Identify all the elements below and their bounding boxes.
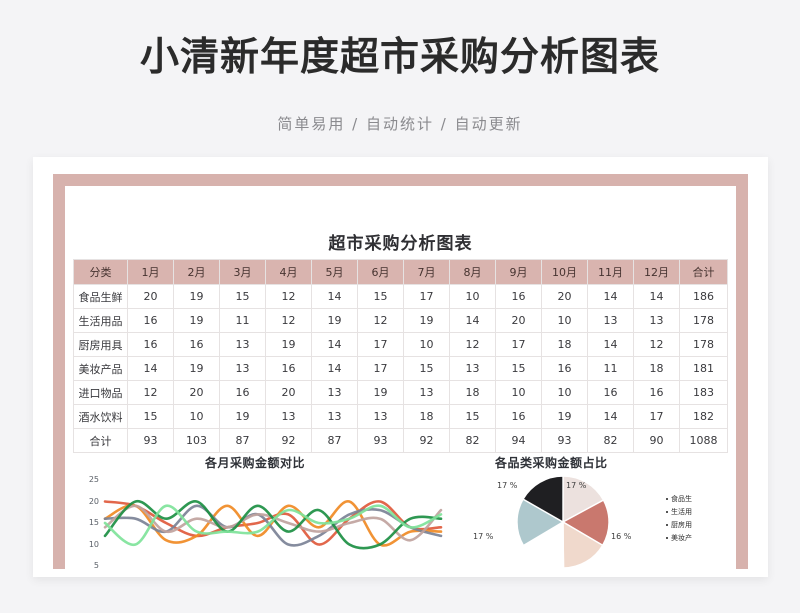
table-cell: 20 [542, 285, 588, 309]
table-cell: 16 [128, 309, 174, 333]
table-cell: 10 [450, 285, 496, 309]
line-chart-yaxis: 252015105 [73, 472, 99, 572]
table-cell: 13 [312, 381, 358, 405]
table-col-header: 4月 [266, 260, 312, 285]
table-cell: 14 [588, 405, 634, 429]
table-col-header: 合计 [680, 260, 728, 285]
table-cell: 14 [312, 357, 358, 381]
table-cell: 93 [542, 429, 588, 453]
table-cell: 20 [266, 381, 312, 405]
table-col-header: 分类 [74, 260, 128, 285]
table-cell: 10 [542, 309, 588, 333]
pie-pct-label-1: 16 % [611, 532, 631, 541]
table-row: 美妆产品141913161417151315161118181 [74, 357, 728, 381]
table-row: 食品生鲜201915121415171016201414186 [74, 285, 728, 309]
page-root: 小清新年度超市采购分析图表 简单易用 / 自动统计 / 自动更新 超市采购分析图… [0, 0, 800, 613]
table-cell: 15 [358, 285, 404, 309]
table-col-header: 3月 [220, 260, 266, 285]
table-cell: 92 [266, 429, 312, 453]
pie-legend-item: 生活用 [666, 505, 728, 518]
table-cell: 19 [542, 405, 588, 429]
pie-pct-label-0: 17 % [566, 481, 586, 490]
y-tick-label: 15 [89, 518, 99, 527]
pie-pct-label-3: 17 % [497, 481, 517, 490]
table-cell: 20 [174, 381, 220, 405]
table-cell: 10 [174, 405, 220, 429]
row-total: 178 [680, 333, 728, 357]
table-cell: 19 [358, 381, 404, 405]
table-cell: 19 [266, 333, 312, 357]
table-cell: 13 [312, 405, 358, 429]
row-total: 178 [680, 309, 728, 333]
table-cell: 16 [634, 381, 680, 405]
table-cell: 17 [358, 357, 404, 381]
row-label: 美妆产品 [74, 357, 128, 381]
table-header-row: 分类1月2月3月4月5月6月7月8月9月10月11月12月合计 [74, 260, 728, 285]
pie-chart: 17 % 16 % 17 % 17 % 食品生生活用厨房用美妆产 [465, 470, 730, 572]
table-cell: 12 [266, 309, 312, 333]
table-col-header: 5月 [312, 260, 358, 285]
table-col-header: 2月 [174, 260, 220, 285]
table-cell: 11 [220, 309, 266, 333]
table-cell: 15 [220, 285, 266, 309]
row-total: 182 [680, 405, 728, 429]
row-total: 1088 [680, 429, 728, 453]
worksheet-card: 超市采购分析图表 分类1月2月3月4月5月6月7月8月9月10月11月12月合计… [33, 157, 768, 577]
line-chart-plot [101, 472, 445, 572]
table-cell: 14 [450, 309, 496, 333]
legend-marker-icon [666, 511, 668, 513]
table-col-header: 9月 [496, 260, 542, 285]
table-cell: 15 [496, 357, 542, 381]
pie-legend-label: 食品生 [671, 494, 692, 504]
legend-marker-icon [666, 498, 668, 500]
table-cell: 12 [128, 381, 174, 405]
table-row: 进口物品122016201319131810101616183 [74, 381, 728, 405]
table-cell: 19 [174, 357, 220, 381]
table-cell: 93 [128, 429, 174, 453]
table-cell: 18 [404, 405, 450, 429]
table-cell: 13 [588, 309, 634, 333]
table-cell: 16 [174, 333, 220, 357]
line-chart-title: 各月采购金额对比 [205, 454, 305, 471]
table-cell: 19 [174, 309, 220, 333]
table-cell: 14 [588, 285, 634, 309]
table-cell: 13 [358, 405, 404, 429]
table-cell: 16 [128, 333, 174, 357]
table-cell: 17 [634, 405, 680, 429]
table-cell: 13 [450, 357, 496, 381]
table-row: 合计93103879287939282949382901088 [74, 429, 728, 453]
pie-legend: 食品生生活用厨房用美妆产 [666, 492, 728, 544]
table-cell: 13 [404, 381, 450, 405]
pie-legend-item: 美妆产 [666, 531, 728, 544]
table-cell: 16 [542, 357, 588, 381]
table-cell: 87 [220, 429, 266, 453]
pie-chart-plot [503, 472, 623, 572]
table-row: 生活用品161911121912191420101313178 [74, 309, 728, 333]
table-body: 食品生鲜201915121415171016201414186生活用品16191… [74, 285, 728, 453]
table-col-header: 1月 [128, 260, 174, 285]
table-cell: 20 [128, 285, 174, 309]
charts-area: 各月采购金额对比 各品类采购金额占比 252015105 17 % 16 % 1… [65, 454, 736, 569]
legend-marker-icon [666, 537, 668, 539]
pie-legend-label: 厨房用 [671, 520, 692, 530]
table-cell: 15 [128, 405, 174, 429]
table-cell: 14 [634, 285, 680, 309]
table-cell: 19 [220, 405, 266, 429]
page-title: 小清新年度超市采购分析图表 [0, 37, 800, 80]
y-tick-label: 20 [89, 497, 99, 506]
pie-pct-label-2: 17 % [473, 532, 493, 541]
pie-legend-item: 厨房用 [666, 518, 728, 531]
table-cell: 17 [496, 333, 542, 357]
table-cell: 82 [588, 429, 634, 453]
table-cell: 103 [174, 429, 220, 453]
table-cell: 18 [634, 357, 680, 381]
table-cell: 11 [588, 357, 634, 381]
table-cell: 93 [358, 429, 404, 453]
table-cell: 18 [542, 333, 588, 357]
table-cell: 13 [266, 405, 312, 429]
row-total: 183 [680, 381, 728, 405]
y-tick-label: 5 [94, 561, 99, 570]
sheet-title: 超市采购分析图表 [65, 229, 736, 254]
table-row: 厨房用具161613191417101217181412178 [74, 333, 728, 357]
table-cell: 82 [450, 429, 496, 453]
table-cell: 19 [404, 309, 450, 333]
row-label: 进口物品 [74, 381, 128, 405]
table-cell: 17 [404, 285, 450, 309]
y-tick-label: 10 [89, 540, 99, 549]
table-cell: 14 [312, 285, 358, 309]
table-cell: 87 [312, 429, 358, 453]
table-cell: 14 [588, 333, 634, 357]
table-col-header: 12月 [634, 260, 680, 285]
legend-marker-icon [666, 524, 668, 526]
table-col-header: 10月 [542, 260, 588, 285]
table-cell: 90 [634, 429, 680, 453]
table-row: 酒水饮料151019131313181516191417182 [74, 405, 728, 429]
pie-legend-label: 美妆产 [671, 533, 692, 543]
table-cell: 19 [174, 285, 220, 309]
table-col-header: 7月 [404, 260, 450, 285]
table-cell: 17 [358, 333, 404, 357]
table-cell: 12 [634, 333, 680, 357]
table-cell: 20 [496, 309, 542, 333]
row-total: 186 [680, 285, 728, 309]
row-label: 酒水饮料 [74, 405, 128, 429]
table-cell: 92 [404, 429, 450, 453]
table-cell: 15 [450, 405, 496, 429]
table-cell: 19 [312, 309, 358, 333]
pie-chart-title: 各品类采购金额占比 [495, 454, 608, 471]
page-subtitle: 简单易用 / 自动统计 / 自动更新 [0, 113, 800, 134]
table-col-header: 11月 [588, 260, 634, 285]
table-cell: 16 [496, 285, 542, 309]
table-cell: 16 [496, 405, 542, 429]
line-chart: 252015105 [73, 472, 443, 572]
pie-legend-label: 生活用 [671, 507, 692, 517]
row-total: 181 [680, 357, 728, 381]
table-col-header: 8月 [450, 260, 496, 285]
table-cell: 16 [588, 381, 634, 405]
table-cell: 14 [312, 333, 358, 357]
row-label: 厨房用具 [74, 333, 128, 357]
table-cell: 10 [542, 381, 588, 405]
table-cell: 13 [220, 357, 266, 381]
table-cell: 13 [634, 309, 680, 333]
table-head: 分类1月2月3月4月5月6月7月8月9月10月11月12月合计 [74, 260, 728, 285]
frame-inner: 超市采购分析图表 分类1月2月3月4月5月6月7月8月9月10月11月12月合计… [65, 186, 736, 569]
purchase-table: 分类1月2月3月4月5月6月7月8月9月10月11月12月合计 食品生鲜2019… [73, 259, 728, 453]
table-cell: 13 [220, 333, 266, 357]
table-cell: 12 [450, 333, 496, 357]
table-cell: 12 [358, 309, 404, 333]
table-cell: 15 [404, 357, 450, 381]
table-cell: 16 [266, 357, 312, 381]
table-cell: 18 [450, 381, 496, 405]
table-cell: 16 [220, 381, 266, 405]
table-col-header: 6月 [358, 260, 404, 285]
y-tick-label: 25 [89, 475, 99, 484]
row-label: 食品生鲜 [74, 285, 128, 309]
row-label: 合计 [74, 429, 128, 453]
table-cell: 10 [404, 333, 450, 357]
table-cell: 14 [128, 357, 174, 381]
table-cell: 94 [496, 429, 542, 453]
table-cell: 12 [266, 285, 312, 309]
decorative-frame: 超市采购分析图表 分类1月2月3月4月5月6月7月8月9月10月11月12月合计… [53, 174, 748, 569]
pie-legend-item: 食品生 [666, 492, 728, 505]
row-label: 生活用品 [74, 309, 128, 333]
table-cell: 10 [496, 381, 542, 405]
